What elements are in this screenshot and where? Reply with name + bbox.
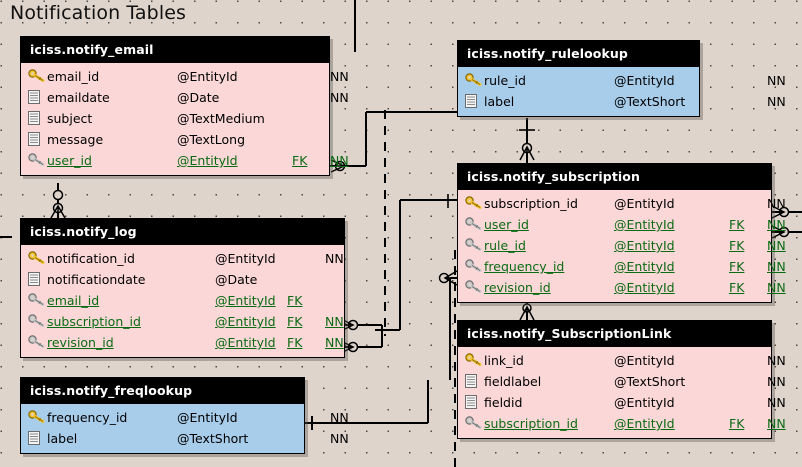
column-notnull-flag: NN <box>767 280 786 295</box>
entity-table-notify_subscription[interactable]: iciss.notify_subscriptionsubscription_id… <box>457 163 772 303</box>
table-title-notify_freqlookup: iciss.notify_freqlookup <box>21 378 304 404</box>
table-row[interactable]: fieldlabel@TextShortNN <box>458 371 771 392</box>
table-row[interactable]: subject@TextMedium <box>21 108 329 129</box>
silver-key-icon <box>28 293 47 309</box>
table-row[interactable]: frequency_id@EntityIdNN <box>21 407 304 428</box>
table-row[interactable]: frequency_id@EntityIdFKNN <box>458 256 771 277</box>
entity-table-notify_rulelookup[interactable]: iciss.notify_rulelookuprule_id@EntityIdN… <box>457 40 700 117</box>
gold-key-icon <box>465 196 484 212</box>
column-type: @EntityId <box>614 238 675 253</box>
column-name: notification_id <box>47 251 135 266</box>
table-row[interactable]: email_id@EntityIdFK <box>21 290 344 311</box>
table-title-notify_email: iciss.notify_email <box>21 37 329 63</box>
gold-key-icon <box>28 251 47 267</box>
column-fk-flag: FK <box>729 280 744 295</box>
gold-key-icon <box>465 353 484 369</box>
column-notnull-flag: NN <box>325 335 344 350</box>
table-row[interactable]: subscription_id@EntityIdFKNN <box>458 413 771 434</box>
column-name: notificationdate <box>47 272 145 287</box>
column-notnull-flag: NN <box>330 431 349 446</box>
silver-key-icon <box>28 153 47 169</box>
column-name: rule_id <box>484 238 526 253</box>
column-notnull-flag: NN <box>325 314 344 329</box>
table-title-notify_rulelookup: iciss.notify_rulelookup <box>458 41 699 67</box>
diagram-title: Notification Tables <box>10 2 186 24</box>
column-type: @TextShort <box>614 374 685 389</box>
column-name: label <box>47 431 77 446</box>
column-name: revision_id <box>484 280 551 295</box>
column-type: @EntityId <box>215 293 276 308</box>
column-type: @EntityId <box>177 153 238 168</box>
silver-key-icon <box>28 335 47 351</box>
table-row[interactable]: label@TextShortNN <box>21 428 304 449</box>
column-notnull-flag: NN <box>767 353 786 368</box>
silver-key-icon <box>465 238 484 254</box>
column-type: @EntityId <box>614 259 675 274</box>
column-type: @EntityId <box>614 73 675 88</box>
column-type: @EntityId <box>215 314 276 329</box>
column-notnull-flag: NN <box>330 90 349 105</box>
table-row[interactable]: revision_id@EntityIdFKNN <box>21 332 344 353</box>
column-name: rule_id <box>484 73 526 88</box>
field-icon <box>28 90 47 106</box>
field-icon <box>28 111 47 127</box>
column-fk-flag: FK <box>729 238 744 253</box>
column-type: @EntityId <box>614 353 675 368</box>
column-type: @EntityId <box>614 416 675 431</box>
table-body-notify_rulelookup: rule_id@EntityIdNNlabel@TextShortNN <box>458 67 699 116</box>
column-notnull-flag: NN <box>767 73 786 88</box>
table-row[interactable]: subscription_id@EntityIdFKNN <box>21 311 344 332</box>
table-row[interactable]: notificationdate@Date <box>21 269 344 290</box>
field-icon <box>28 272 47 288</box>
column-fk-flag: FK <box>287 314 302 329</box>
table-row[interactable]: rule_id@EntityIdFKNN <box>458 235 771 256</box>
table-row[interactable]: fieldid@EntityIdNN <box>458 392 771 413</box>
column-type: @Date <box>215 272 257 287</box>
gold-key-icon <box>28 410 47 426</box>
column-name: email_id <box>47 293 99 308</box>
column-fk-flag: FK <box>292 153 307 168</box>
table-row[interactable]: subscription_id@EntityIdNN <box>458 193 771 214</box>
field-icon <box>28 132 47 148</box>
table-row[interactable]: link_id@EntityIdNN <box>458 350 771 371</box>
column-notnull-flag: NN <box>767 374 786 389</box>
silver-key-icon <box>465 259 484 275</box>
field-icon <box>465 374 484 390</box>
silver-key-icon <box>465 217 484 233</box>
column-type: @EntityId <box>177 69 238 84</box>
column-type: @EntityId <box>614 280 675 295</box>
column-name: message <box>47 132 103 147</box>
column-notnull-flag: NN <box>767 94 786 109</box>
table-row[interactable]: emaildate@DateNN <box>21 87 329 108</box>
silver-key-icon <box>465 416 484 432</box>
column-notnull-flag: NN <box>325 251 344 266</box>
table-body-notify_SubscriptionLink: link_id@EntityIdNNfieldlabel@TextShortNN… <box>458 347 771 438</box>
table-row[interactable]: user_id@EntityIdFKNN <box>21 150 329 171</box>
table-row[interactable]: rule_id@EntityIdNN <box>458 70 699 91</box>
column-name: user_id <box>47 153 92 168</box>
table-title-notify_subscription: iciss.notify_subscription <box>458 164 771 190</box>
column-name: emaildate <box>47 90 110 105</box>
column-type: @TextLong <box>177 132 245 147</box>
column-type: @EntityId <box>614 217 675 232</box>
column-type: @TextShort <box>614 94 685 109</box>
column-fk-flag: FK <box>287 293 302 308</box>
table-title-notify_SubscriptionLink: iciss.notify_SubscriptionLink <box>458 321 771 347</box>
column-notnull-flag: NN <box>330 153 349 168</box>
column-name: fieldlabel <box>484 374 541 389</box>
column-type: @EntityId <box>614 196 675 211</box>
column-name: subscription_id <box>484 416 578 431</box>
field-icon <box>28 431 47 447</box>
column-name: revision_id <box>47 335 114 350</box>
entity-table-notify_log[interactable]: iciss.notify_lognotification_id@EntityId… <box>20 218 345 358</box>
silver-key-icon <box>28 314 47 330</box>
column-name: subscription_id <box>484 196 578 211</box>
table-body-notify_email: email_id@EntityIdNNemaildate@DateNNsubje… <box>21 63 329 175</box>
column-notnull-flag: NN <box>330 69 349 84</box>
entity-table-notify_SubscriptionLink[interactable]: iciss.notify_SubscriptionLinklink_id@Ent… <box>457 320 772 439</box>
field-icon <box>465 94 484 110</box>
column-type: @Date <box>177 90 219 105</box>
column-type: @EntityId <box>614 395 675 410</box>
field-icon <box>465 395 484 411</box>
table-body-notify_subscription: subscription_id@EntityIdNNuser_id@Entity… <box>458 190 771 302</box>
table-body-notify_log: notification_id@EntityIdNNnotificationda… <box>21 245 344 357</box>
column-name: fieldid <box>484 395 522 410</box>
column-name: subscription_id <box>47 314 141 329</box>
gold-key-icon <box>28 69 47 85</box>
column-fk-flag: FK <box>729 259 744 274</box>
table-row[interactable]: label@TextShortNN <box>458 91 699 112</box>
column-notnull-flag: NN <box>330 410 349 425</box>
column-name: email_id <box>47 69 99 84</box>
column-fk-flag: FK <box>729 416 744 431</box>
column-name: frequency_id <box>484 259 564 274</box>
column-notnull-flag: NN <box>767 395 786 410</box>
column-notnull-flag: NN <box>767 196 786 211</box>
column-fk-flag: FK <box>729 217 744 232</box>
table-row[interactable]: notification_id@EntityIdNN <box>21 248 344 269</box>
column-name: link_id <box>484 353 524 368</box>
column-type: @TextMedium <box>177 111 265 126</box>
column-fk-flag: FK <box>287 335 302 350</box>
table-row[interactable]: user_id@EntityIdFKNN <box>458 214 771 235</box>
gold-key-icon <box>465 73 484 89</box>
column-type: @EntityId <box>215 251 276 266</box>
column-name: frequency_id <box>47 410 127 425</box>
table-row[interactable]: revision_id@EntityIdFKNN <box>458 277 771 298</box>
column-name: user_id <box>484 217 529 232</box>
silver-key-icon <box>465 280 484 296</box>
entity-table-notify_freqlookup[interactable]: iciss.notify_freqlookupfrequency_id@Enti… <box>20 377 305 454</box>
column-name: subject <box>47 111 92 126</box>
column-notnull-flag: NN <box>767 416 786 431</box>
column-notnull-flag: NN <box>767 238 786 253</box>
table-title-notify_log: iciss.notify_log <box>21 219 344 245</box>
column-type: @EntityId <box>177 410 238 425</box>
table-row[interactable]: email_id@EntityIdNN <box>21 66 329 87</box>
column-name: label <box>484 94 514 109</box>
column-type: @TextShort <box>177 431 248 446</box>
column-notnull-flag: NN <box>767 259 786 274</box>
table-body-notify_freqlookup: frequency_id@EntityIdNNlabel@TextShortNN <box>21 404 304 453</box>
table-row[interactable]: message@TextLong <box>21 129 329 150</box>
entity-table-notify_email[interactable]: iciss.notify_emailemail_id@EntityIdNNema… <box>20 36 330 176</box>
column-notnull-flag: NN <box>767 217 786 232</box>
column-type: @EntityId <box>215 335 276 350</box>
